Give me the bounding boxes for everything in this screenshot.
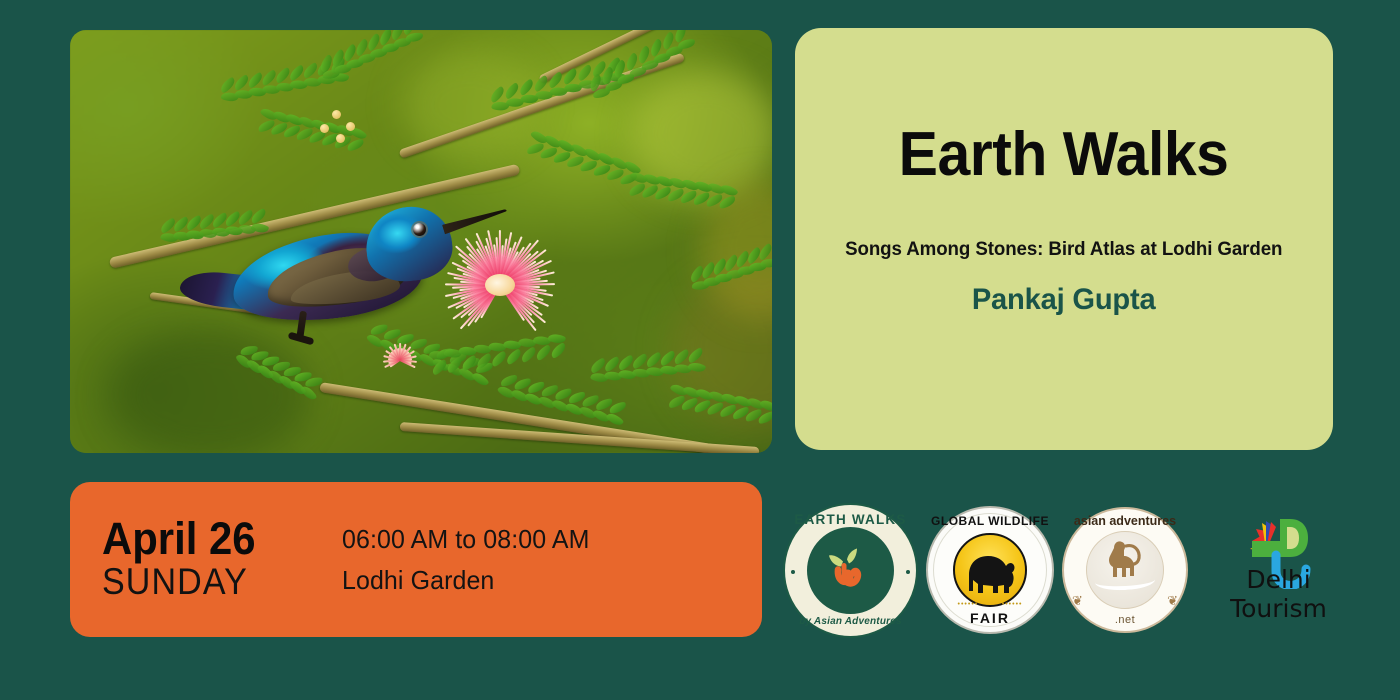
leaf-sprig-icon: ❦ (1167, 593, 1178, 609)
date-panel: April 26 SUNDAY 06:00 AM to 08:00 AM Lod… (70, 482, 762, 637)
logo-global-wildlife-fair: GLOBAL WILDLIFE •••••• •••••• FAIR (926, 506, 1054, 634)
detail-block: 06:00 AM to 08:00 AM Lodhi Garden (342, 519, 600, 600)
purple-sunbird (170, 185, 500, 370)
logo-earth-walks: EARTH WALKS by Asian Adventures (783, 503, 918, 638)
event-photo (70, 30, 772, 453)
bird-beak (442, 206, 508, 235)
event-subtitle: Songs Among Stones: Bird Atlas at Lodhi … (845, 238, 1282, 261)
bullet-dot-icon (906, 570, 910, 574)
page-title: Earth Walks (899, 124, 1229, 186)
bullet-dot-icon (791, 570, 795, 574)
logo-gwf-top-text: GLOBAL WILDLIFE (926, 514, 1054, 528)
event-location: Lodhi Garden (342, 560, 590, 600)
logo-earth-walks-bottom-text: by Asian Adventures (783, 616, 918, 627)
sprout-leaf-icon (823, 546, 879, 595)
event-time: 06:00 AM to 08:00 AM (342, 519, 590, 559)
event-date: April 26 (102, 517, 316, 561)
flower-bud (336, 134, 345, 143)
flower-bud (346, 122, 355, 131)
logo-asian-bottom-text: .net (1062, 614, 1188, 626)
logo-asian-top-text: asian adventures (1062, 514, 1188, 528)
event-speaker: Pankaj Gupta (972, 283, 1156, 317)
flower-bud (332, 110, 341, 119)
leaf-sprig-icon: ❦ (1072, 593, 1083, 609)
badge-inner-disc (1086, 531, 1164, 609)
event-weekday: SUNDAY (102, 563, 314, 602)
decorative-dots: •••••• •••••• (926, 601, 1054, 608)
logo-gwf-bottom-text: FAIR (926, 610, 1054, 626)
elephant-icon (955, 535, 1027, 607)
logo-asian-adventures: asian adventures ❦ ❦ .net (1062, 507, 1188, 633)
logo-delhi-tourism: Delhi Tourism (1196, 505, 1361, 635)
badge-disc (953, 533, 1027, 607)
bird-eye (413, 223, 426, 236)
title-panel: Earth Walks Songs Among Stones: Bird Atl… (795, 28, 1333, 450)
logo-strip: EARTH WALKS by Asian Adventures GLOBAL W… (783, 500, 1383, 640)
logo-delhi-tourism-label: Delhi Tourism (1196, 565, 1361, 623)
flower-bud (320, 124, 329, 133)
date-block: April 26 SUNDAY (102, 517, 332, 602)
